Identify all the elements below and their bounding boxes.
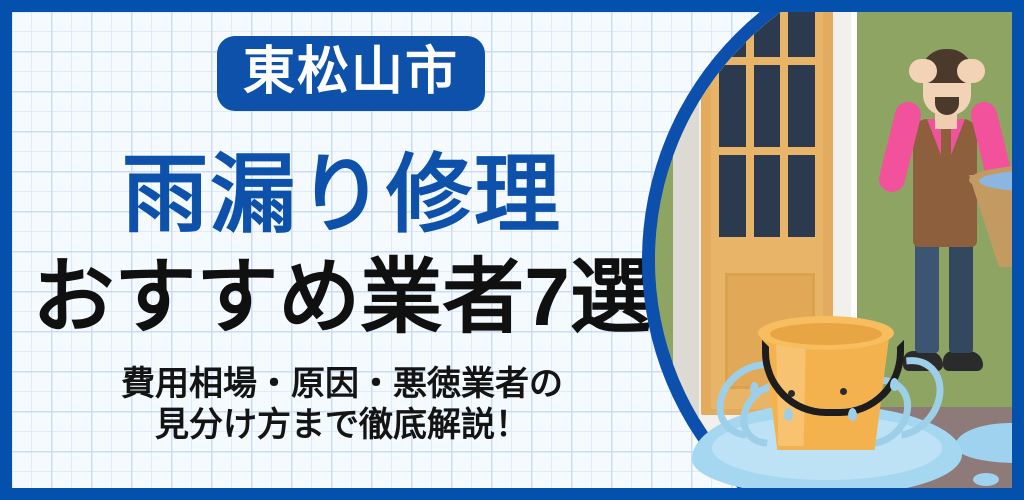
page-title-sub: おすすめ業者7選: [12, 257, 672, 339]
banner-root: 東松山市 雨漏り修理 おすすめ業者7選 費用相場・原因・悪徳業者の 見分け方まで…: [0, 0, 1024, 500]
shoe-right: [943, 351, 983, 371]
door-frame-shade: [673, 12, 699, 433]
door-pane: [719, 12, 746, 57]
grid-paper-background: 東松山市 雨漏り修理 おすすめ業者7選 費用相場・原因・悪徳業者の 見分け方まで…: [12, 12, 1012, 488]
door-pane: [719, 155, 746, 237]
door-glass-panes: [719, 12, 815, 237]
leaking-bucket: [728, 312, 928, 488]
leak-hole: [840, 388, 847, 395]
door-pane: [754, 155, 781, 237]
page-title-main: 雨漏り修理: [12, 152, 672, 238]
door-pane: [788, 12, 815, 57]
drip-droplet: [848, 408, 857, 421]
hand-left: [909, 59, 937, 83]
drip-droplet: [784, 408, 793, 421]
city-badge: 東松山市: [217, 36, 485, 111]
lead-text: 費用相場・原因・悪徳業者の 見分け方まで徹底解説！: [12, 364, 672, 447]
leak-hole: [788, 390, 795, 397]
carried-bucket: [969, 165, 1012, 269]
drip-droplet: [890, 378, 899, 391]
lead-line-1: 費用相場・原因・悪徳業者の: [12, 364, 672, 405]
door-pane: [754, 65, 781, 147]
hand-right: [957, 59, 985, 83]
door-pane: [788, 155, 815, 237]
door-pane: [719, 65, 746, 147]
brown-vest: [913, 119, 977, 247]
text-column: 東松山市 雨漏り修理 おすすめ業者7選 費用相場・原因・悪徳業者の 見分け方まで…: [12, 12, 692, 488]
floor-puddle-droplet: [973, 473, 999, 486]
door-pane: [754, 12, 781, 57]
lead-line-2: 見分け方まで徹底解説！: [12, 405, 672, 446]
door-pane: [788, 65, 815, 147]
drip-droplet: [750, 382, 759, 395]
